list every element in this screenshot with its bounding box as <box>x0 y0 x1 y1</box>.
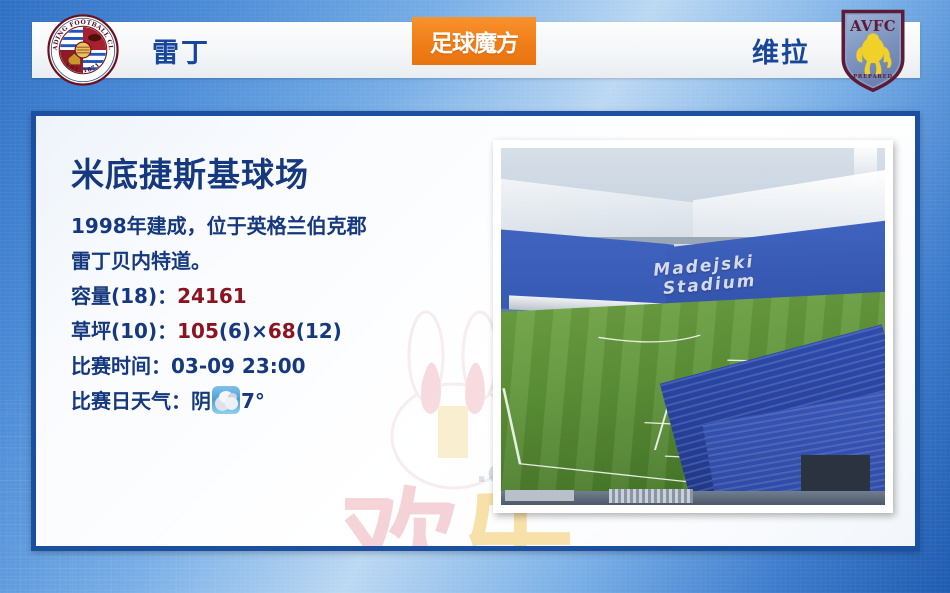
away-team-name: 维拉 <box>752 22 810 78</box>
svg-text:AVFC: AVFC <box>849 17 896 35</box>
stadium-photo: Madejski Stadium <box>501 148 885 505</box>
brand-logo-text: 足球魔方 <box>430 24 518 58</box>
stadium-photo-frame: Madejski Stadium <box>493 140 893 513</box>
match-time-label: 比赛时间： <box>71 354 171 378</box>
screenshot-root: 雷丁 维拉 足球魔方 <box>0 0 950 593</box>
stadium-description-line-2: 雷丁贝内特道。 <box>71 244 501 279</box>
home-team-name: 雷丁 <box>152 22 210 78</box>
pitch-separator: × <box>251 319 268 343</box>
reading-fc-crest-icon: READING FOOTBALL CLUB EST. 1871 <box>47 14 119 86</box>
stadium-description-line-1: 1998年建成，位于英格兰伯克郡 <box>71 209 501 244</box>
pitch-length: 105 <box>177 319 219 343</box>
brand-logo[interactable]: 足球魔方 <box>412 17 536 65</box>
match-time-value: 03-09 23:00 <box>171 354 306 378</box>
match-time-row: 比赛时间：03-09 23:00 <box>71 349 501 384</box>
pitch-size-row: 草坪(10)：105(6)×68(12) <box>71 314 501 349</box>
weather-condition: 阴 <box>191 389 211 413</box>
watermark-kanji-1: 欢 <box>341 476 459 551</box>
weather-label: 比赛日天气： <box>71 389 191 413</box>
aston-villa-crest-icon: AVFC PREPARED <box>838 8 908 92</box>
capacity-label: 容量(18)： <box>71 284 177 308</box>
weather-temperature: 7° <box>241 389 265 413</box>
pitch-width-rank: (12) <box>296 319 342 343</box>
photo-bottom-barrier <box>609 489 693 503</box>
capacity-value: 24161 <box>177 284 247 308</box>
svg-text:PREPARED: PREPARED <box>853 74 893 80</box>
capacity-row: 容量(18)：24161 <box>71 279 501 314</box>
cloudy-icon <box>212 386 240 414</box>
stadium-title: 米底捷斯基球场 <box>71 148 501 196</box>
pitch-width: 68 <box>268 319 296 343</box>
photo-bottom-sign <box>505 490 574 501</box>
weather-row: 比赛日天气：阴7° <box>71 384 501 419</box>
pitch-length-rank: (6) <box>219 319 251 343</box>
photo-floodlight-glare <box>854 148 877 191</box>
stadium-info-panel: .co 欢乐 米底捷斯基球场 1998年建成，位于英格兰伯克郡 雷丁贝内特道。 … <box>31 111 920 551</box>
pitch-label: 草坪(10)： <box>71 319 177 343</box>
stadium-info-text-block: 米底捷斯基球场 1998年建成，位于英格兰伯克郡 雷丁贝内特道。 容量(18)：… <box>71 148 501 419</box>
